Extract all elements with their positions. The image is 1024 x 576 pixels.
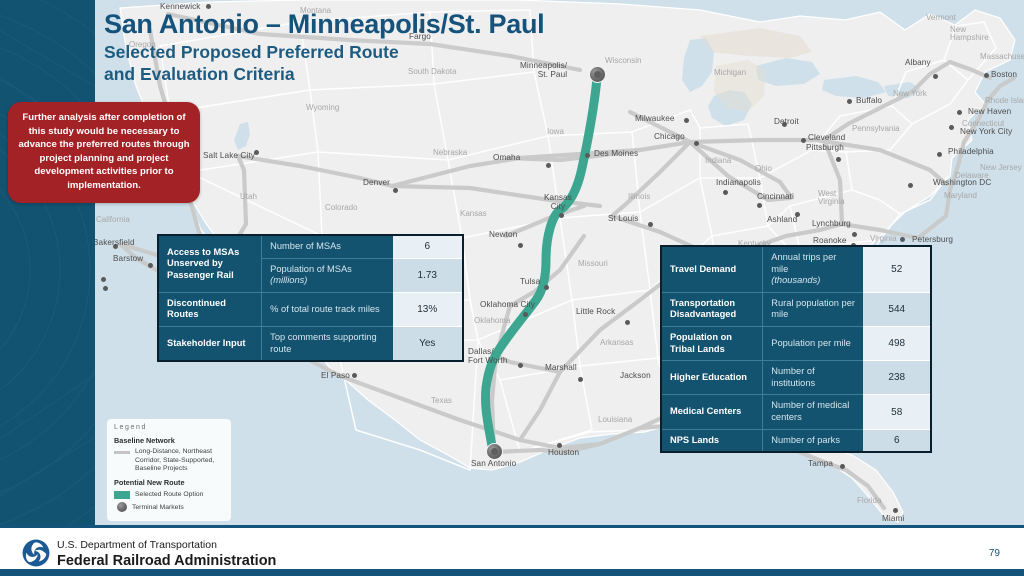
map-label-st-louis: St Louis [608,214,638,223]
state-label-michigan: Michigan [714,68,746,77]
state-label-wyoming: Wyoming [306,103,339,112]
legend-terminal-markets-text: Terminal Markets [132,504,184,513]
table-row: Access to MSAs Unserved by Passenger Rai… [158,235,463,258]
table-cell-metric: Annual trips per mile (thousands) [763,246,864,292]
map-label-marshall: Marshall [545,363,577,372]
state-label-virginia: Virginia [870,234,897,243]
agency-name: Federal Railroad Administration [57,553,276,570]
map-label-chicago: Chicago [654,132,685,141]
table-row: Population on Tribal Lands Population pe… [661,327,931,361]
legend-baseline-heading: Baseline Network [114,436,224,445]
table-cell-metric: % of total route track miles [262,292,393,326]
map-label-jackson: Jackson [620,371,651,380]
table-cell-metric: Rural population per mile [763,292,864,326]
map-label-cleveland: Cleveland [808,133,845,142]
legend-selected-route-text: Selected Route Option [135,491,203,500]
map-label-ashland: Ashland [767,215,797,224]
map-label-kansas-city: KansasCity [544,194,572,211]
legend-baseline-text: Long-Distance, Northeast Corridor, State… [135,448,224,474]
subtitle-line-2: and Evaluation Criteria [104,64,295,84]
state-label-nebraska: Nebraska [433,148,467,157]
legend-item-terminal-markets: Terminal Markets [114,502,224,513]
selected-route-swatch-icon [114,491,130,499]
city-dot [933,74,938,79]
table-cell-metric: Number of MSAs [262,235,393,258]
table-cell-metric: Number of institutions [763,361,864,395]
decorative-arcs [0,0,95,525]
map-label-salt-lake-city: Salt Lake City [203,151,255,160]
footer: U.S. Department of Transportation Federa… [0,525,1024,576]
terminal-marker-san-antonio [486,443,503,460]
map-label-cincinnati: Cincinnati [757,192,794,201]
table-row: NPS Lands Number of parks 6 [661,429,931,452]
city-dot [585,153,590,158]
state-label-delaware: Delaware [955,171,989,180]
criteria-table-right: Travel Demand Annual trips per mile (tho… [660,245,932,453]
table-cell-category: NPS Lands [661,429,763,452]
map-label-omaha: Omaha [493,153,520,162]
city-dot [684,118,689,123]
city-dot [937,152,942,157]
map-label-oklahoma-city: Oklahoma City [480,300,535,309]
state-label-texas: Texas [431,396,452,405]
state-label-iowa: Iowa [547,127,564,136]
state-label-massachusetts: Massachusetts [980,52,1024,61]
state-label-rhode-island: Rhode Island [985,96,1024,105]
criteria-table-left: Access to MSAs Unserved by Passenger Rai… [157,234,464,362]
table-cell-metric: Number of parks [763,429,864,452]
state-label-colorado: Colorado [325,203,357,212]
state-label-illinois: Illinois [628,192,650,201]
state-label-new-york: New York [893,89,927,98]
state-label-west-virginia: WestVirginia [818,190,845,207]
map-label-pittsburgh: Pittsburgh [806,143,844,152]
table-row: Stakeholder Input Top comments supportin… [158,327,463,362]
table-cell-category: Stakeholder Input [158,327,262,362]
table-cell-value: 6 [863,429,931,452]
map-label-san-antonio: San Antonio [471,459,516,468]
table-cell-category: Access to MSAs Unserved by Passenger Rai… [158,235,262,292]
map-label-petersburg: Petersburg [912,235,953,244]
footer-bottom-rule [0,569,1024,576]
state-label-vermont: Vermont [926,13,956,22]
subtitle-line-1: Selected Proposed Preferred Route [104,42,399,62]
state-label-utah: Utah [240,192,257,201]
city-dot [723,190,728,195]
table-cell-value: 13% [393,292,463,326]
map-label-houston: Houston [548,448,579,457]
map-label-philadelphia: Philadelphia [948,147,994,156]
legend-newroute-heading: Potential New Route [114,478,224,487]
city-dot [648,222,653,227]
state-label-missouri: Missouri [578,259,608,268]
city-dot [840,464,845,469]
state-label-new-hampshire: NewHampshire [950,26,989,43]
table-cell-metric: Population of MSAs (millions) [262,258,393,292]
table-cell-value: 498 [863,327,931,361]
map-label-boston: Boston [991,70,1017,79]
city-dot [984,73,989,78]
map-label-new-york-city: New York City [960,127,1012,136]
state-label-florida: Florida [857,496,881,505]
table-row: Discontinued Routes % of total route tra… [158,292,463,326]
terminal-market-swatch-icon [117,502,127,512]
dot-seal-icon [22,539,50,567]
map-label-new-haven: New Haven [968,107,1011,116]
city-dot [757,203,762,208]
legend-item-baseline: Long-Distance, Northeast Corridor, State… [114,448,224,474]
state-label-louisiana: Louisiana [598,415,632,424]
page-subtitle: Selected Proposed Preferred Route and Ev… [104,41,464,85]
city-dot [852,232,857,237]
map-label-indianapolis: Indianapolis [716,178,761,187]
table-cell-metric: Number of medical centers [763,395,864,429]
city-dot [908,183,913,188]
metric-unit: (thousands) [771,275,820,285]
metric-text: Population of MSAs [270,264,352,274]
state-label-maryland: Maryland [944,191,977,200]
city-dot [694,141,699,146]
table-cell-metric: Top comments supporting route [262,327,393,362]
table-cell-category: Discontinued Routes [158,292,262,326]
table-cell-category: Transportation Disadvantaged [661,292,763,326]
city-dot [900,237,905,242]
city-dot [352,373,357,378]
metric-text: Annual trips per mile [771,252,836,274]
map-label-milwaukee: Milwaukee [635,114,675,123]
table-row: Medical Centers Number of medical center… [661,395,931,429]
state-label-wisconsin: Wisconsin [605,56,641,65]
city-dot [523,312,528,317]
map-label-newton: Newton [489,230,517,239]
table-cell-category: Population on Tribal Lands [661,327,763,361]
city-dot [103,286,108,291]
table-cell-value: 544 [863,292,931,326]
city-dot [847,99,852,104]
map-label-roanoke: Roanoke [813,236,846,245]
city-dot [893,508,898,513]
state-label-oklahoma: Oklahoma [474,316,510,325]
map-label-barstow: Barstow [113,254,143,263]
title-block: San Antonio – Minneapolis/St. Paul Selec… [104,10,544,85]
map-label-tulsa: Tulsa [520,277,540,286]
legend-item-selected-route: Selected Route Option [114,490,224,500]
map-label-miami: Miami [882,514,904,523]
table-cell-value: 58 [863,395,931,429]
city-dot [957,110,962,115]
state-label-connecticut: Connecticut [962,119,1004,128]
legend-title: Legend [114,424,224,431]
baseline-line-swatch-icon [114,451,130,454]
map-label-detroit: Detroit [774,117,799,126]
page-title: San Antonio – Minneapolis/St. Paul [104,10,544,39]
table-cell-metric: Population per mile [763,327,864,361]
city-dot [544,285,549,290]
map-label-des-moines: Des Moines [594,149,638,158]
table-cell-category: Medical Centers [661,395,763,429]
map-label-tampa: Tampa [808,459,833,468]
table-row: Travel Demand Annual trips per mile (tho… [661,246,931,292]
map-label-lynchburg: Lynchburg [812,219,851,228]
city-dot [949,125,954,130]
left-accent-band [0,0,95,525]
state-label-pennsylvania: Pennsylvania [852,124,900,133]
city-dot [518,363,523,368]
state-label-arkansas: Arkansas [600,338,633,347]
agency-branding: U.S. Department of Transportation Federa… [57,539,276,570]
metric-unit: (millions) [270,275,307,285]
table-row: Transportation Disadvantaged Rural popul… [661,292,931,326]
map-label-denver: Denver [363,178,390,187]
table-cell-value: 1.73 [393,258,463,292]
city-dot [148,263,153,268]
city-dot [101,277,106,282]
state-label-indiana: Indiana [705,156,731,165]
page-number: 79 [989,548,1000,559]
map-label-bakersfield: Bakersfield [93,238,135,247]
city-dot [559,213,564,218]
state-label-kansas: Kansas [460,209,487,218]
callout-box: Further analysis after completion of thi… [8,102,200,203]
state-label-california: California [96,215,130,224]
agency-department: U.S. Department of Transportation [57,539,276,552]
table-row: Higher Education Number of institutions … [661,361,931,395]
city-dot [836,157,841,162]
table-cell-value: Yes [393,327,463,362]
table-cell-value: 52 [863,246,931,292]
map-label-little-rock: Little Rock [576,307,615,316]
city-dot [518,243,523,248]
city-dot [625,320,630,325]
city-dot [578,377,583,382]
map-label-el-paso: El Paso [321,371,350,380]
slide: Kennewick Fargo Salt Lake City Denver Ba… [0,0,1024,576]
map-canvas: Kennewick Fargo Salt Lake City Denver Ba… [0,0,1024,525]
table-cell-category: Travel Demand [661,246,763,292]
table-cell-category: Higher Education [661,361,763,395]
map-label-buffalo: Buffalo [856,96,882,105]
table-cell-value: 238 [863,361,931,395]
city-dot [393,188,398,193]
map-label-dallas-fort-worth: Dallas/Fort Worth [468,348,508,365]
city-dot [546,163,551,168]
map-label-albany: Albany [905,58,931,67]
terminal-marker-minneapolis [589,66,606,83]
table-cell-value: 6 [393,235,463,258]
map-legend: Legend Baseline Network Long-Distance, N… [107,419,231,521]
state-label-ohio: Ohio [755,164,772,173]
